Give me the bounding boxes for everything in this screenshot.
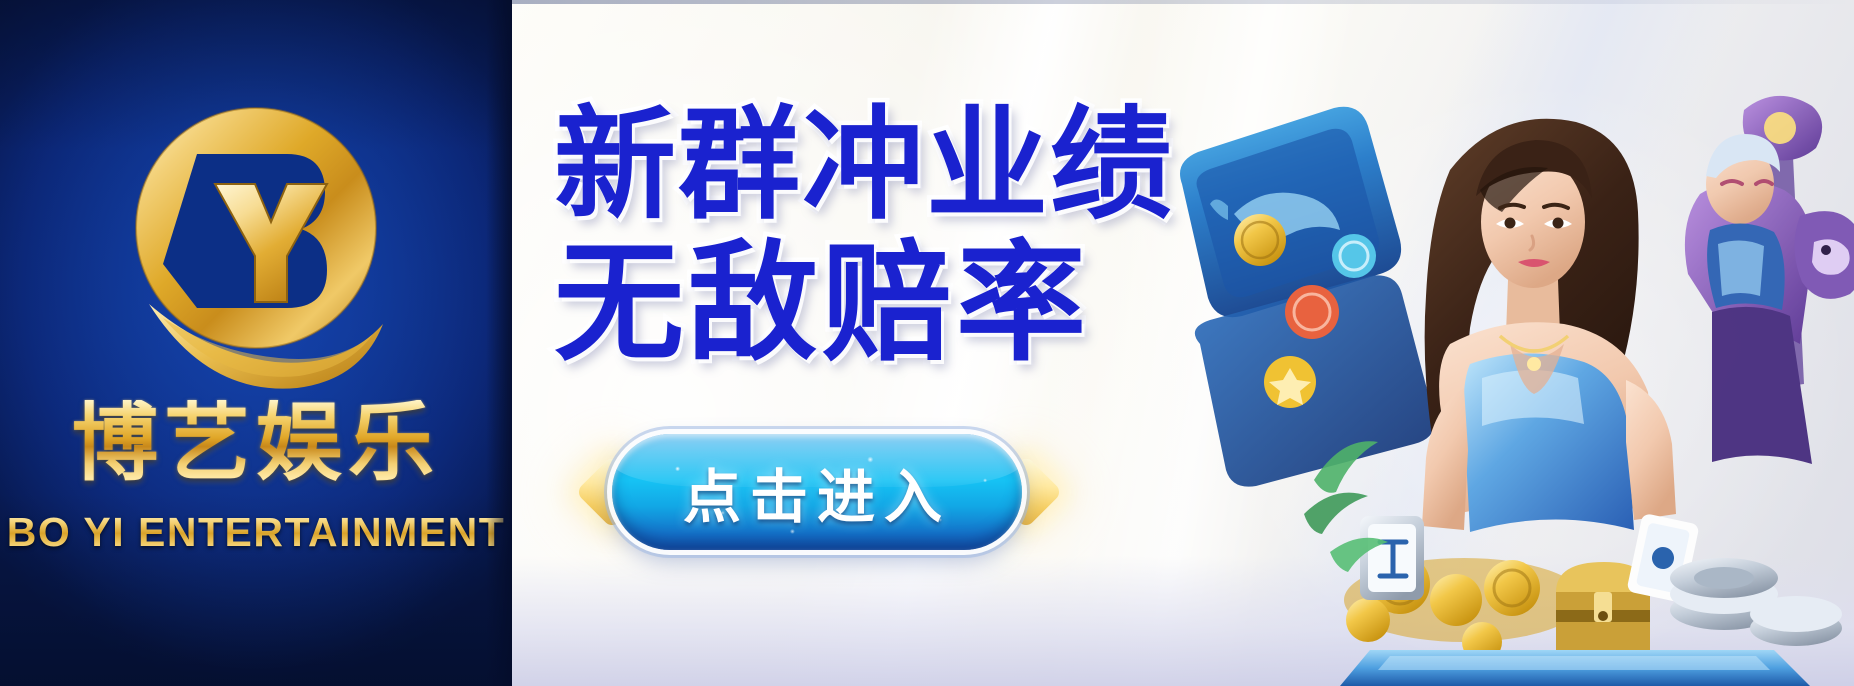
enter-button-label: 点击进入 xyxy=(683,450,951,534)
brand-name-en: BO YI ENTERTAINMENT xyxy=(0,512,512,553)
brand-logo xyxy=(111,96,401,396)
promo-panel: 新群冲业绩 无敌赔率 点击进入 xyxy=(512,0,1854,686)
brand-panel: 博艺娱乐 BO YI ENTERTAINMENT xyxy=(0,0,512,686)
silver-coin-stack xyxy=(1670,558,1842,646)
cta-zone: 点击进入 xyxy=(584,422,1054,562)
headline-line-1: 新群冲业绩 xyxy=(554,96,1174,235)
headline-line-2: 无敌赔率 xyxy=(554,229,1174,377)
brand-name-cn: 博艺娱乐 xyxy=(0,400,512,486)
casino-hostess-illustration xyxy=(1164,44,1854,686)
promo-banner: 博艺娱乐 BO YI ENTERTAINMENT 新群冲业绩 无敌赔率 点击进入 xyxy=(0,0,1854,686)
stage-podium xyxy=(1340,650,1810,686)
panel-edge-shadow xyxy=(486,0,512,686)
enter-button[interactable]: 点击进入 xyxy=(612,434,1022,550)
promo-headline: 新群冲业绩 无敌赔率 xyxy=(554,96,1174,377)
panel-top-accent xyxy=(512,0,1854,4)
artwork-svg xyxy=(1164,44,1854,686)
by-monogram-icon xyxy=(111,96,401,396)
mahjong-tile xyxy=(1360,516,1424,600)
